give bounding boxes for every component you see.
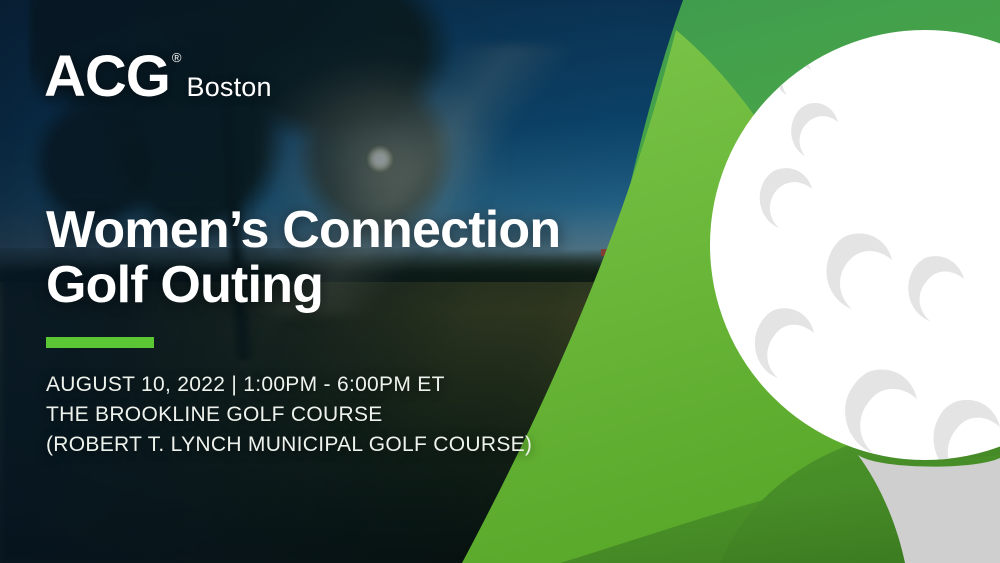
registered-trademark-icon: ® [172, 51, 182, 64]
acg-boston-logo: ACG ® Boston [44, 48, 272, 106]
event-title: Women’s Connection Golf Outing [46, 203, 560, 313]
event-title-line-2: Golf Outing [46, 258, 560, 313]
accent-divider [46, 337, 154, 348]
event-banner: ACG ® Boston Women’s Connection Golf Out… [0, 0, 1000, 563]
event-date-time: AUGUST 10, 2022 | 1:00PM - 6:00PM ET [46, 370, 532, 400]
event-title-line-1: Women’s Connection [46, 203, 560, 258]
event-venue-alt-name: (ROBERT T. LYNCH MUNICIPAL GOLF COURSE) [46, 430, 532, 460]
banner-content: ACG ® Boston Women’s Connection Golf Out… [0, 0, 1000, 563]
logo-wordmark: ACG [44, 48, 170, 106]
event-details: AUGUST 10, 2022 | 1:00PM - 6:00PM ET THE… [46, 370, 532, 460]
event-venue: THE BROOKLINE GOLF COURSE [46, 400, 532, 430]
logo-chapter-name: Boston [186, 74, 271, 101]
